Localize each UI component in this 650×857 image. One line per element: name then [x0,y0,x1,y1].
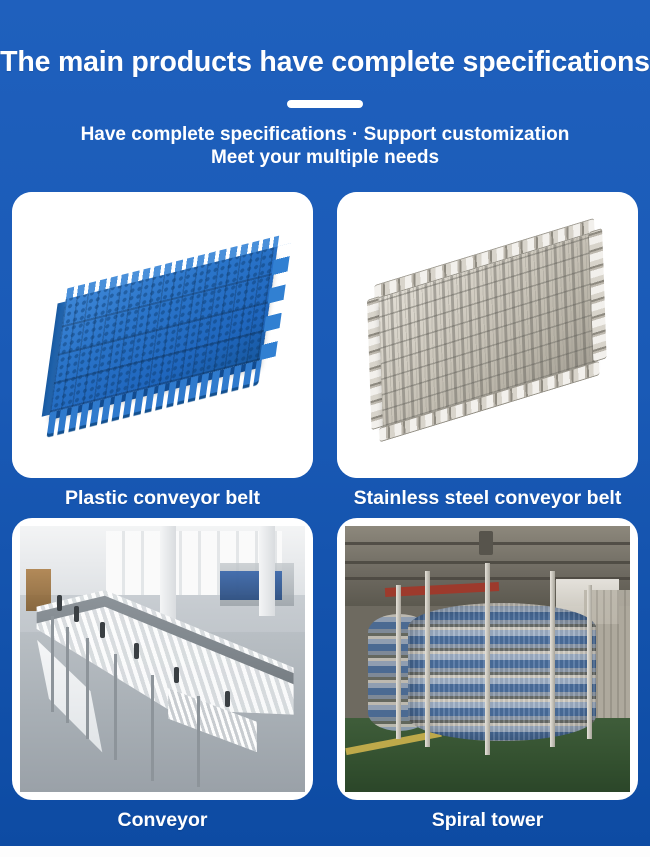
product-card-plastic-conveyor-belt[interactable] [12,192,313,478]
spiral-tower-photo-mat [345,526,630,792]
product-card-stainless-steel-conveyor-belt[interactable] [337,192,638,478]
page-subtitle: Have complete specifications · Support c… [0,123,650,169]
factory-belt-conveyor-photo-icon [20,526,305,792]
bottom-white-strip [0,846,650,857]
product-cell-conveyor[interactable]: Conveyor [12,518,313,840]
product-cell-spiral-tower[interactable]: Spiral tower [337,518,638,840]
plastic-modular-belt-render-icon [12,192,313,478]
subtitle-line-1: Have complete specifications · Support c… [81,124,570,145]
product-showcase-page: The main products have complete specific… [0,0,650,857]
product-label-spiral-tower: Spiral tower [337,800,638,840]
title-divider [287,100,363,108]
spiral-cooling-tower-photo-icon [345,526,630,792]
subtitle-line-2: Meet your multiple needs [0,146,650,169]
product-label-conveyor: Conveyor [12,800,313,840]
product-cell-plastic-conveyor-belt[interactable]: Plastic conveyor belt [12,192,313,518]
product-label-stainless-steel-conveyor-belt: Stainless steel conveyor belt [337,478,638,518]
conveyor-photo-mat [20,526,305,792]
stainless-steel-mesh-belt-render-icon [337,192,638,478]
page-title: The main products have complete specific… [0,46,650,79]
product-grid: Plastic conveyor belt Stainless steel co… [12,192,638,840]
product-label-plastic-conveyor-belt: Plastic conveyor belt [12,478,313,518]
product-card-conveyor[interactable] [12,518,313,800]
product-card-spiral-tower[interactable] [337,518,638,800]
product-cell-stainless-steel-conveyor-belt[interactable]: Stainless steel conveyor belt [337,192,638,518]
